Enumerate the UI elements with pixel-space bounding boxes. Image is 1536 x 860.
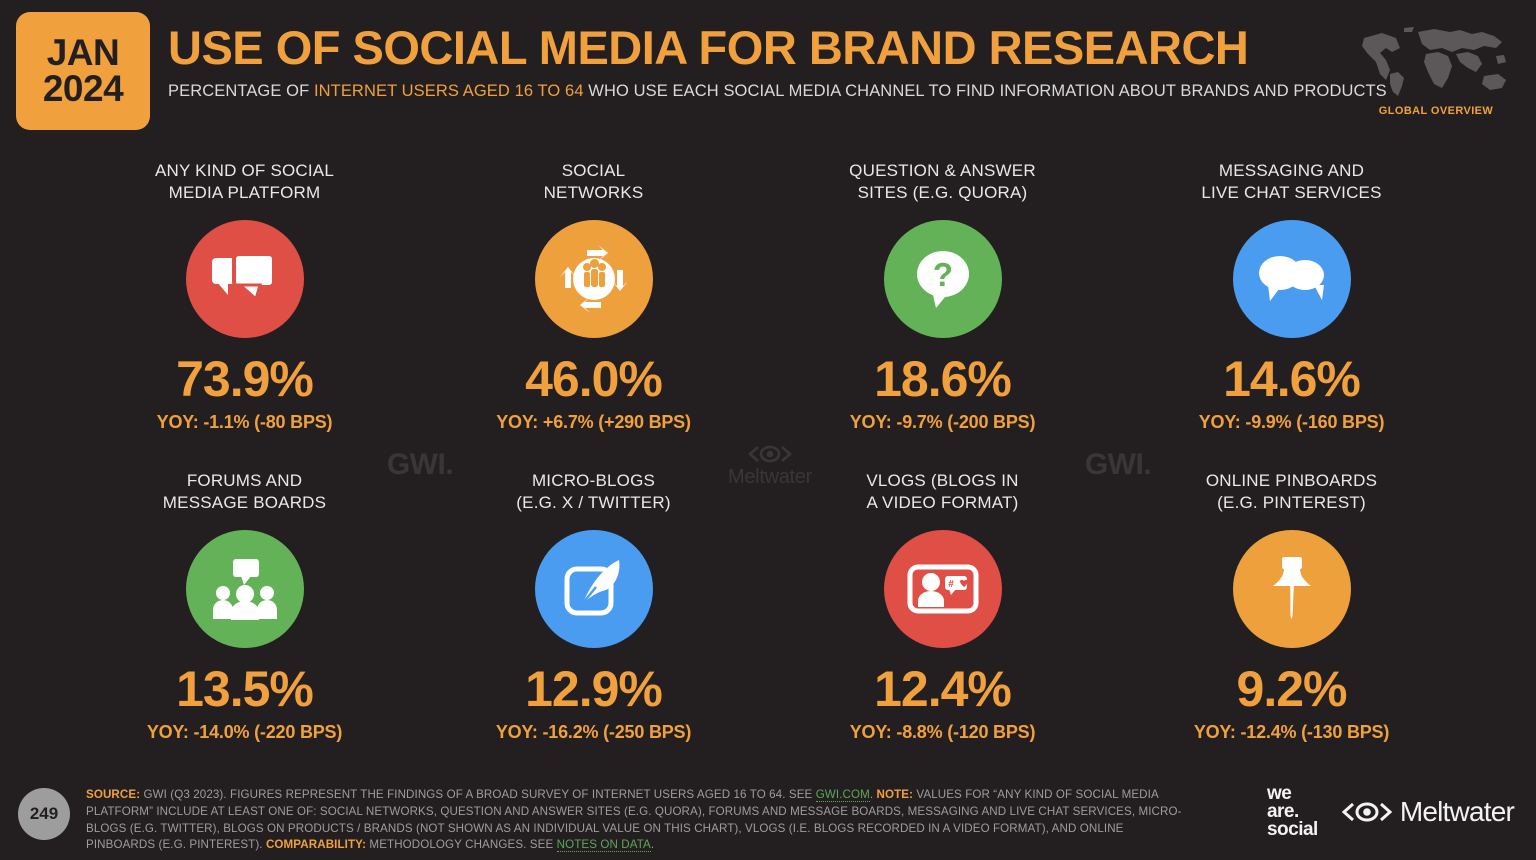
stat-icon-wrap	[1117, 530, 1466, 648]
date-month: JAN	[47, 35, 120, 71]
stat-value: 14.6%	[1117, 350, 1466, 408]
stat-card-label: FORUMS AND MESSAGE BOARDS	[70, 470, 419, 515]
question-bubble-icon: ?	[884, 220, 1002, 338]
page-number-badge: 249	[18, 788, 70, 840]
stat-icon-wrap	[1117, 220, 1466, 338]
stat-card-social-networks[interactable]: SOCIAL NETWORKS	[419, 150, 768, 460]
stat-icon-wrap: ?	[768, 220, 1117, 338]
footer-logos: we are. social Meltwater	[1267, 785, 1514, 839]
chat-bubbles-icon	[1233, 220, 1351, 338]
stat-card-label: MICRO-BLOGS (E.G. X / TWITTER)	[419, 470, 768, 515]
comparability-body: METHODOLOGY CHANGES. SEE	[366, 838, 557, 851]
meltwater-wordmark: Meltwater	[1400, 796, 1514, 828]
stat-value: 13.5%	[70, 660, 419, 718]
subtitle-highlight: INTERNET USERS AGED 16 TO 64	[314, 82, 584, 100]
stat-yoy: YOY: -9.9% (-160 BPS)	[1117, 412, 1466, 433]
pushpin-icon	[1233, 530, 1351, 648]
date-year: 2024	[43, 71, 123, 107]
stat-icon-wrap	[419, 220, 768, 338]
stat-card-label: QUESTION & ANSWER SITES (E.G. QUORA)	[768, 160, 1117, 205]
footer: 249 SOURCE: GWI (Q3 2023). FIGURES REPRE…	[0, 775, 1536, 860]
stats-row-2: FORUMS AND MESSAGE BOARDS	[0, 460, 1536, 770]
we-are-social-logo: we are. social	[1267, 785, 1318, 839]
stat-icon-wrap: #	[768, 530, 1117, 648]
source-body-2: .	[870, 788, 877, 801]
notes-on-data-link[interactable]: NOTES ON DATA	[557, 838, 651, 852]
stat-value: 9.2%	[1117, 660, 1466, 718]
stat-card-micro-blogs[interactable]: MICRO-BLOGS (E.G. X / TWITTER) 12.9% YOY…	[419, 460, 768, 770]
forum-group-icon	[186, 530, 304, 648]
trailing-period: .	[651, 838, 654, 851]
meltwater-eye-icon	[1340, 800, 1394, 824]
stat-card-label: MESSAGING AND LIVE CHAT SERVICES	[1117, 160, 1466, 205]
stat-card-pinboards[interactable]: ONLINE PINBOARDS (E.G. PINTEREST)	[1117, 460, 1466, 770]
world-map-icon	[1356, 22, 1516, 100]
svg-text:?: ?	[932, 256, 952, 293]
stat-icon-wrap	[70, 220, 419, 338]
video-blog-icon: #	[884, 530, 1002, 648]
subtitle-pre: PERCENTAGE OF	[168, 82, 314, 100]
source-body-1: GWI (Q3 2023). FIGURES REPRESENT THE FIN…	[140, 788, 816, 801]
stat-yoy: YOY: -1.1% (-80 BPS)	[70, 412, 419, 433]
infographic-page: JAN 2024 USE OF SOCIAL MEDIA FOR BRAND R…	[0, 0, 1536, 860]
stat-yoy: YOY: -16.2% (-250 BPS)	[419, 722, 768, 743]
stat-icon-wrap	[70, 530, 419, 648]
stat-yoy: YOY: -9.7% (-200 BPS)	[768, 412, 1117, 433]
date-badge: JAN 2024	[16, 12, 150, 130]
stat-card-label: ANY KIND OF SOCIAL MEDIA PLATFORM	[70, 160, 419, 205]
global-overview-block: GLOBAL OVERVIEW	[1350, 22, 1522, 117]
subtitle-post: WHO USE EACH SOCIAL MEDIA CHANNEL TO FIN…	[584, 82, 1387, 100]
stat-icon-wrap	[419, 530, 768, 648]
page-subtitle: PERCENTAGE OF INTERNET USERS AGED 16 TO …	[168, 82, 1338, 101]
stat-value: 73.9%	[70, 350, 419, 408]
note-label: NOTE:	[877, 788, 914, 801]
stat-value: 18.6%	[768, 350, 1117, 408]
stat-card-forums[interactable]: FORUMS AND MESSAGE BOARDS	[70, 460, 419, 770]
stat-card-messaging[interactable]: MESSAGING AND LIVE CHAT SERVICES	[1117, 150, 1466, 460]
stat-card-label: SOCIAL NETWORKS	[419, 160, 768, 205]
svg-text:#: #	[948, 579, 954, 590]
stat-yoy: YOY: +6.7% (+290 BPS)	[419, 412, 768, 433]
stat-card-qa-sites[interactable]: QUESTION & ANSWER SITES (E.G. QUORA) ? 1…	[768, 150, 1117, 460]
source-note-text: SOURCE: GWI (Q3 2023). FIGURES REPRESENT…	[86, 787, 1196, 854]
stats-row-1: ANY KIND OF SOCIAL MEDIA PLATFORM	[0, 150, 1536, 460]
stat-card-vlogs[interactable]: VLOGS (BLOGS IN A VIDEO FORMAT)	[768, 460, 1117, 770]
stat-yoy: YOY: -14.0% (-220 BPS)	[70, 722, 419, 743]
stats-grid: ANY KIND OF SOCIAL MEDIA PLATFORM	[0, 150, 1536, 770]
stat-yoy: YOY: -12.4% (-130 BPS)	[1117, 722, 1466, 743]
stat-value: 12.4%	[768, 660, 1117, 718]
comparability-label: COMPARABILITY:	[266, 838, 366, 851]
source-label: SOURCE:	[86, 788, 140, 801]
global-overview-label: GLOBAL OVERVIEW	[1350, 105, 1522, 117]
gwi-link[interactable]: GWI.COM	[816, 788, 870, 802]
stat-card-label: VLOGS (BLOGS IN A VIDEO FORMAT)	[768, 470, 1117, 515]
network-people-icon	[535, 220, 653, 338]
stat-value: 12.9%	[419, 660, 768, 718]
quill-compose-icon	[535, 530, 653, 648]
header: JAN 2024 USE OF SOCIAL MEDIA FOR BRAND R…	[0, 0, 1536, 140]
meltwater-logo: Meltwater	[1340, 796, 1514, 828]
stat-value: 46.0%	[419, 350, 768, 408]
stat-yoy: YOY: -8.8% (-120 BPS)	[768, 722, 1117, 743]
page-title: USE OF SOCIAL MEDIA FOR BRAND RESEARCH	[168, 24, 1338, 71]
stat-card-any-social-media[interactable]: ANY KIND OF SOCIAL MEDIA PLATFORM	[70, 150, 419, 460]
speech-bubbles-icon	[186, 220, 304, 338]
stat-card-label: ONLINE PINBOARDS (E.G. PINTEREST)	[1117, 470, 1466, 515]
header-text-block: USE OF SOCIAL MEDIA FOR BRAND RESEARCH P…	[168, 24, 1338, 101]
